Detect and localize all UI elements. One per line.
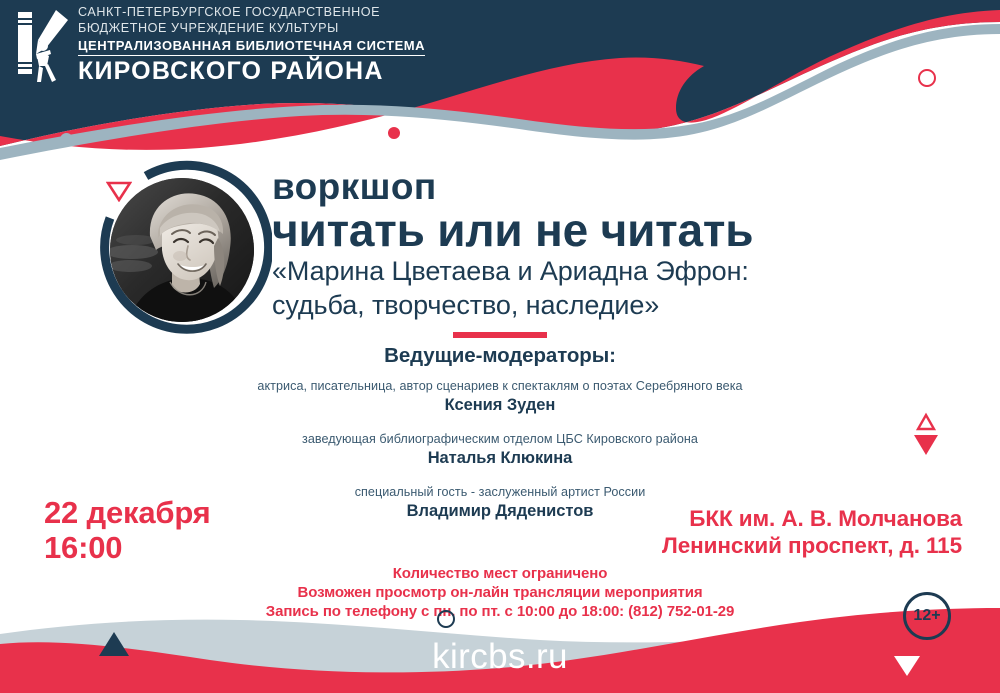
moderator-name: Ксения Зуден (120, 396, 880, 415)
moderator-name: Наталья Клюкина (120, 449, 880, 468)
circle-outline-navy-icon (437, 610, 455, 628)
title-main: читать или не читать (272, 207, 912, 254)
org-line-1: САНКТ-ПЕТЕРБУРГСКОЕ ГОСУДАРСТВЕННОЕ (78, 6, 425, 19)
title-group: воркшоп читать или не читать «Марина Цве… (272, 168, 912, 322)
title-kicker: воркшоп (272, 168, 912, 205)
moderators-heading: Ведущие-модераторы: (120, 344, 880, 368)
triangle-pair-icon (908, 409, 944, 457)
event-time: 16:00 (44, 530, 211, 565)
note-online-stream: Возможен просмотр он-лайн трансляции мер… (150, 584, 850, 603)
moderator-role: специальный гость - заслуженный артист Р… (120, 485, 880, 499)
venue-address: Ленинский проспект, д. 115 (662, 532, 962, 559)
triangle-down-filled-white-icon (893, 655, 921, 677)
moderator-role: заведующая библиографическим отделом ЦБС… (120, 432, 880, 446)
poster-canvas: САНКТ-ПЕТЕРБУРГСКОЕ ГОСУДАРСТВЕННОЕ БЮДЖ… (0, 0, 1000, 693)
title-subtitle-line-2: судьба, творчество, наследие» (272, 290, 912, 322)
circle-outline-red-icon (918, 69, 936, 87)
note-seats-limited: Количество мест ограничено (150, 565, 850, 584)
event-notes: Количество мест ограничено Возможен прос… (150, 565, 850, 622)
library-logo-icon (16, 6, 72, 84)
section-divider (453, 332, 547, 338)
triangle-up-filled-navy-icon (98, 631, 130, 657)
moderators-section: Ведущие-модераторы: актриса, писательниц… (120, 344, 880, 521)
venue-name: БКК им. А. В. Молчанова (662, 505, 962, 532)
triangle-down-outline-icon (106, 180, 132, 202)
event-venue: БКК им. А. В. Молчанова Ленинский проспе… (662, 505, 962, 559)
moderator-entry: заведующая библиографическим отделом ЦБС… (120, 432, 880, 468)
organization-header: САНКТ-ПЕТЕРБУРГСКОЕ ГОСУДАРСТВЕННОЕ БЮДЖ… (0, 0, 620, 96)
dot-gray-icon (60, 133, 73, 146)
website-url[interactable]: kircbs.ru (0, 637, 1000, 677)
title-subtitle-line-1: «Марина Цветаева и Ариадна Эфрон: (272, 256, 912, 288)
event-date: 22 декабря (44, 495, 211, 530)
event-datetime: 22 декабря 16:00 (44, 495, 211, 566)
note-registration-phone: Запись по телефону с пн. по пт. с 10:00 … (150, 603, 850, 622)
moderator-entry: актриса, писательница, автор сценариев к… (120, 379, 880, 415)
org-district-line: КИРОВСКОГО РАЙОНА (78, 59, 425, 84)
age-rating-badge: 12+ (903, 592, 951, 640)
org-system-line: ЦЕНТРАЛИЗОВАННАЯ БИБЛИОТЕЧНАЯ СИСТЕМА (78, 39, 425, 56)
moderator-role: актриса, писательница, автор сценариев к… (120, 379, 880, 393)
org-line-2: БЮДЖЕТНОЕ УЧРЕЖДЕНИЕ КУЛЬТУРЫ (78, 22, 425, 35)
dot-red-icon (388, 127, 400, 139)
speaker-portrait (92, 160, 272, 340)
